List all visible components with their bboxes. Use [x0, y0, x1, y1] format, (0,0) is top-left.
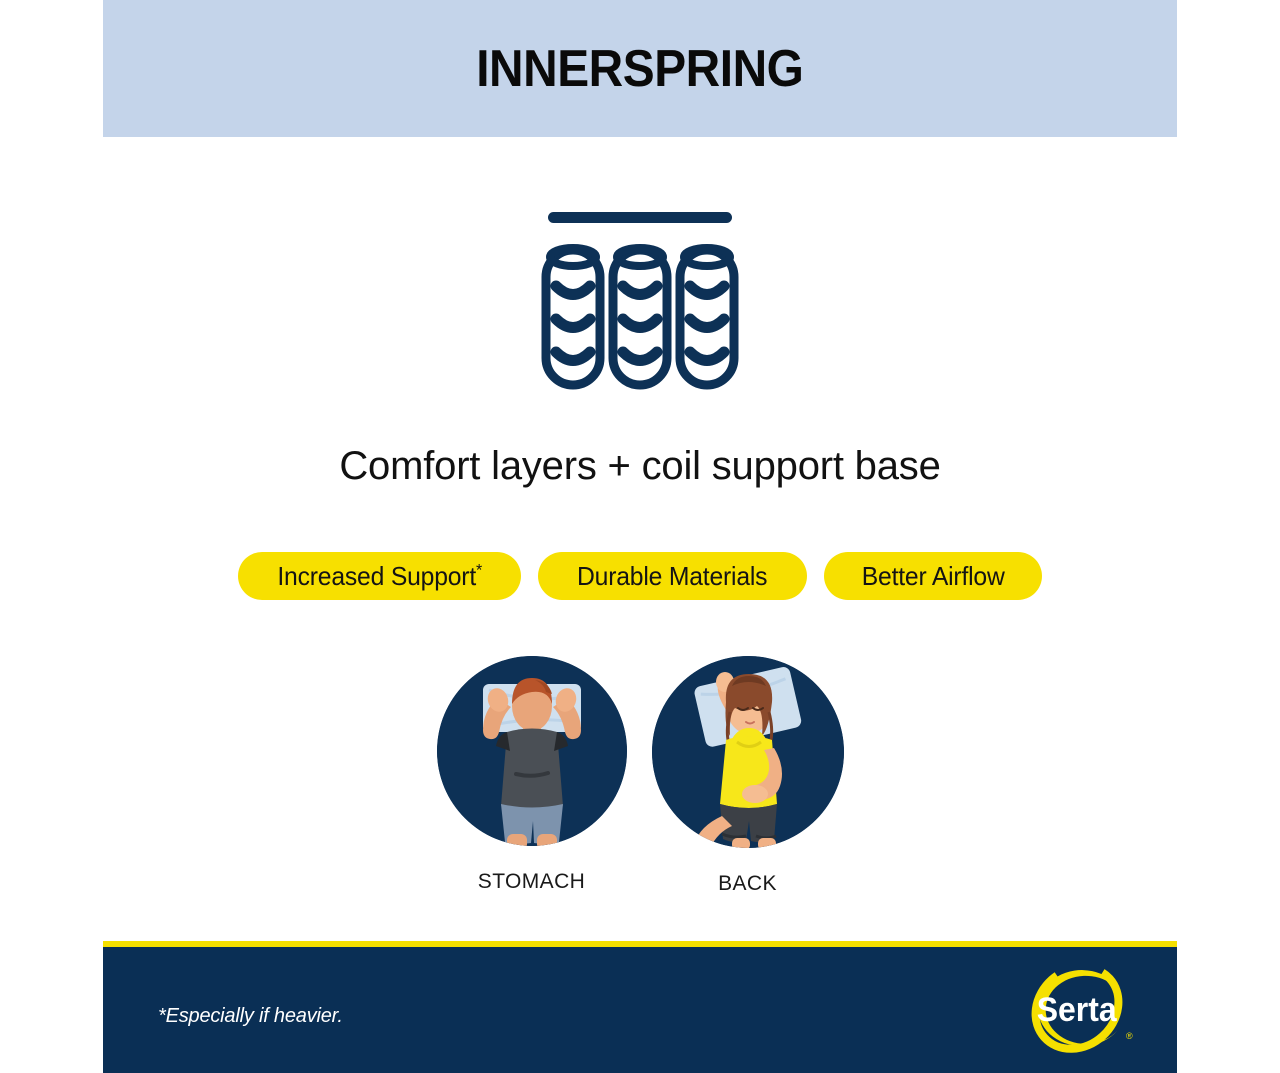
serta-logo[interactable]: Serta ® [1025, 961, 1135, 1057]
sleep-position-label-back: BACK [718, 872, 777, 896]
feature-pill-better-airflow[interactable]: Better Airflow [824, 552, 1042, 600]
coil-3 [680, 248, 734, 385]
header-band: INNERSPRING [103, 0, 1177, 137]
sleep-position-label-stomach: STOMACH [478, 870, 585, 894]
back-sleeper-circle [652, 656, 844, 848]
feature-pill-increased-support[interactable]: Increased Support* [238, 552, 522, 600]
sleep-position-back: BACK [652, 656, 844, 896]
support-bar-shape [548, 212, 732, 223]
registered-trademark-mark: ® [1126, 1031, 1133, 1041]
feature-pill-row: Increased Support* Durable Materials Bet… [103, 552, 1177, 600]
coil-2 [613, 248, 667, 385]
page-title: INNERSPRING [476, 39, 803, 99]
footer-bar: *Especially if heavier. Serta ® [103, 941, 1177, 1073]
coil-icon-container [103, 195, 1177, 400]
feature-pill-durable-materials[interactable]: Durable Materials [538, 552, 806, 600]
sleep-position-stomach: STOMACH [437, 656, 627, 896]
innerspring-info-card: INNERSPRING [103, 0, 1177, 1073]
stomach-sleeper-illustration [437, 656, 627, 846]
feature-pill-label: Durable Materials [577, 561, 767, 592]
feature-pill-label: Better Airflow [861, 561, 1004, 592]
serta-logo-mark: Serta ® [1025, 961, 1135, 1057]
coil-stack-icon [540, 195, 740, 395]
sleep-position-row: STOMACH [103, 656, 1177, 896]
serta-wordmark: Serta [1037, 990, 1118, 1028]
headline-text: Comfort layers + coil support base [103, 444, 1177, 489]
coil-1 [546, 248, 600, 385]
footnote-text: *Especially if heavier. [158, 1005, 343, 1028]
stomach-sleeper-circle [437, 656, 627, 846]
back-sleeper-illustration [652, 656, 844, 848]
feature-pill-label: Increased Support* [277, 561, 482, 592]
footnote-marker: * [476, 560, 482, 579]
